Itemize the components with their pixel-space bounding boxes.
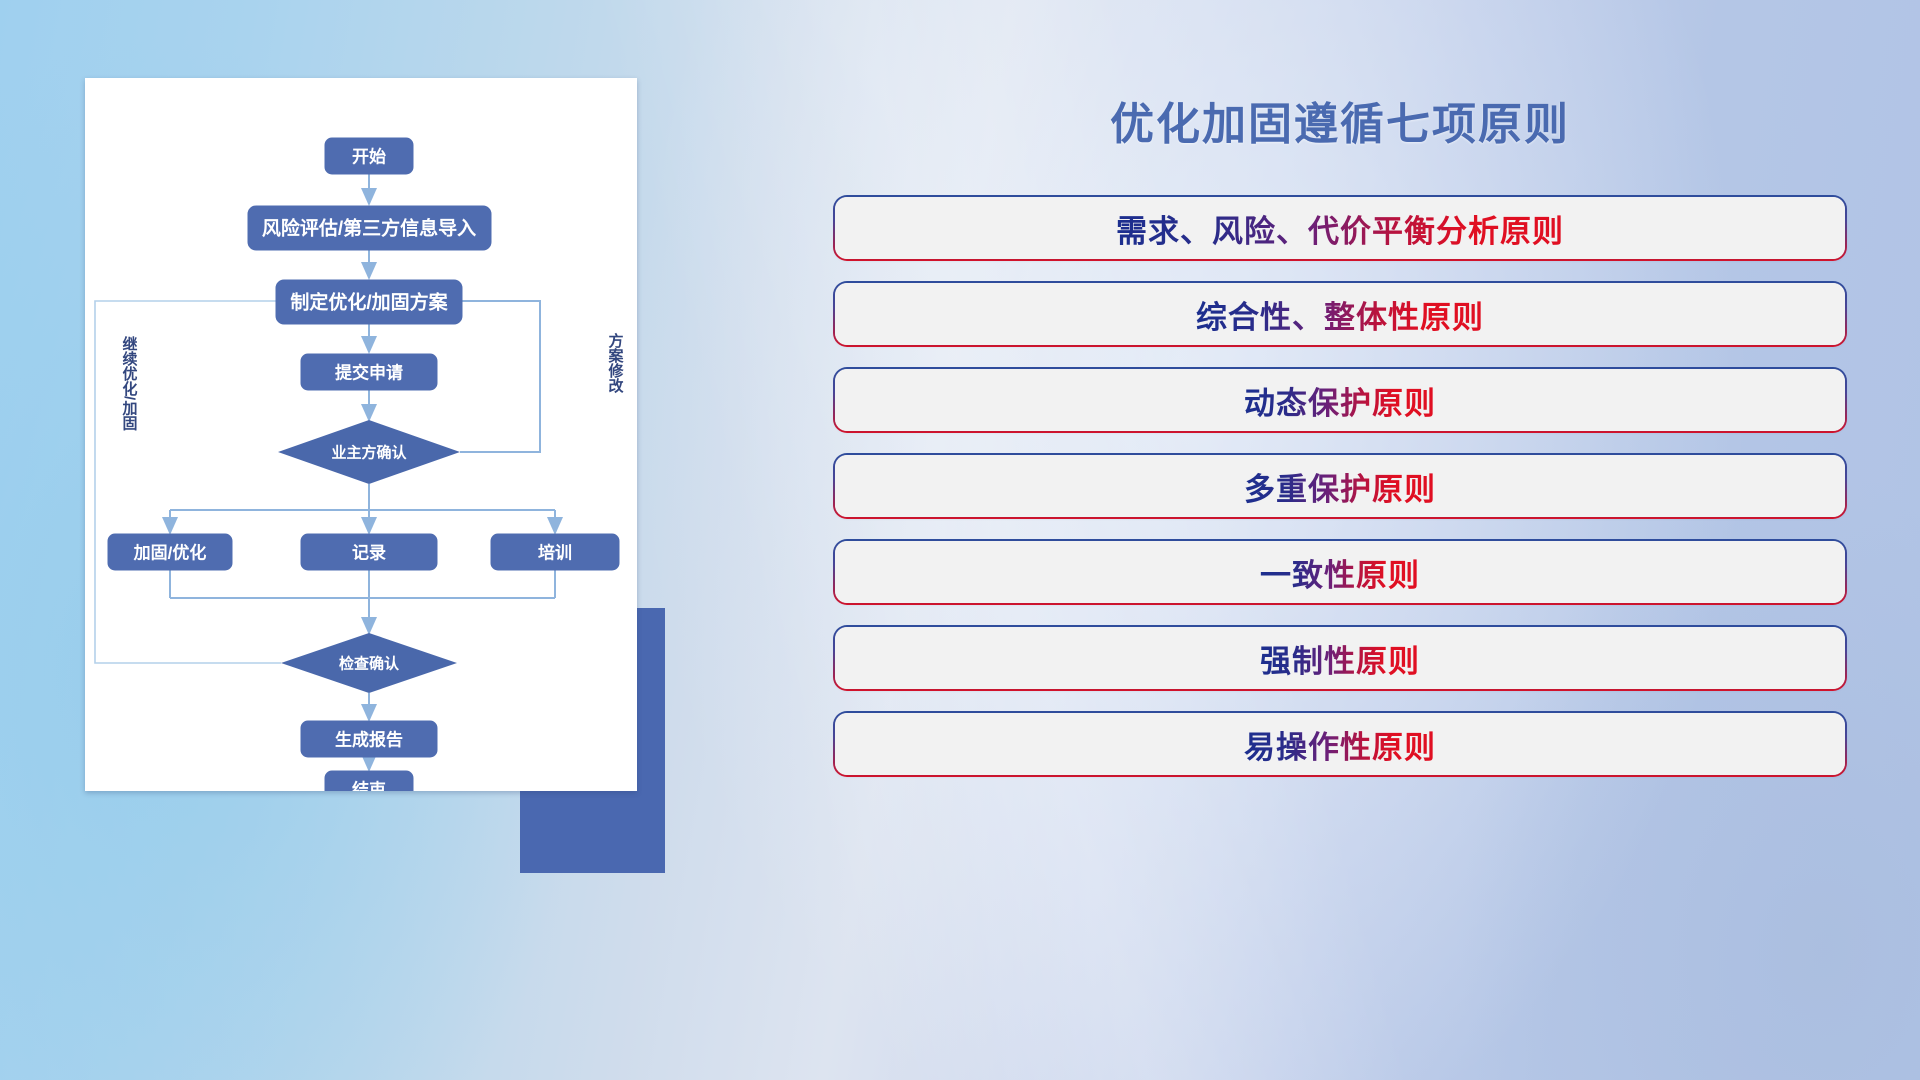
principle-label: 一致性原则 (1260, 550, 1420, 595)
principle-card-6[interactable]: 强制性原则 (835, 627, 1845, 689)
principle-label: 强制性原则 (1260, 636, 1420, 681)
principle-card-7[interactable]: 易操作性原则 (835, 713, 1845, 775)
flow-node-record[interactable]: 记录 (301, 534, 437, 570)
flowchart-panel-wrapper: 开始 风险评估/第三方信息导入 制定优化/加固方案 提交申请 业主方确认 加固/… (85, 78, 670, 803)
principle-card-1[interactable]: 需求、风险、代价平衡分析原则 (835, 197, 1845, 259)
flow-node-report[interactable]: 生成报告 (301, 721, 437, 757)
flow-node-check-confirm-label: 检查确认 (339, 655, 400, 673)
flow-node-start-label: 开始 (352, 147, 386, 167)
loop-label-revise: 方案修改 (607, 332, 625, 394)
page-title: 优化加固遵循七项原则 (835, 88, 1845, 152)
flow-node-training-label: 培训 (538, 543, 572, 563)
flow-node-check-confirm[interactable]: 检查确认 (281, 633, 457, 693)
flow-node-training[interactable]: 培训 (491, 534, 619, 570)
flow-node-owner-confirm-label: 业主方确认 (331, 444, 407, 462)
flow-node-reinforce-label: 加固/优化 (133, 543, 207, 563)
flow-node-report-label: 生成报告 (335, 730, 403, 750)
flow-node-plan-label: 制定优化/加固方案 (290, 291, 448, 314)
flow-node-record-label: 记录 (352, 544, 386, 563)
flow-node-owner-confirm[interactable]: 业主方确认 (278, 420, 460, 484)
flow-node-reinforce[interactable]: 加固/优化 (108, 534, 232, 570)
principle-card-2[interactable]: 综合性、整体性原则 (835, 283, 1845, 345)
flow-node-risk-assessment-label: 风险评估/第三方信息导入 (262, 217, 476, 240)
flow-node-end-label: 结束 (352, 780, 386, 792)
principles-list: 需求、风险、代价平衡分析原则 综合性、整体性原则 动态保护原则 多重保护原则 一… (835, 197, 1845, 775)
flow-node-end[interactable]: 结束 (325, 771, 413, 791)
flow-node-submit-label: 提交申请 (335, 363, 403, 383)
principle-label: 动态保护原则 (1244, 378, 1436, 423)
principle-label: 易操作性原则 (1244, 722, 1436, 767)
principle-card-4[interactable]: 多重保护原则 (835, 455, 1845, 517)
loop-label-continue: 继续优化/加固 (121, 335, 139, 431)
flow-node-risk-assessment[interactable]: 风险评估/第三方信息导入 (248, 206, 491, 250)
flowchart-diagram: 开始 风险评估/第三方信息导入 制定优化/加固方案 提交申请 业主方确认 加固/… (85, 78, 637, 791)
principle-card-3[interactable]: 动态保护原则 (835, 369, 1845, 431)
principle-label: 多重保护原则 (1244, 464, 1436, 509)
flow-node-start[interactable]: 开始 (325, 138, 413, 174)
principle-card-5[interactable]: 一致性原则 (835, 541, 1845, 603)
flow-node-submit[interactable]: 提交申请 (301, 354, 437, 390)
principles-panel: 优化加固遵循七项原则 需求、风险、代价平衡分析原则 综合性、整体性原则 动态保护… (835, 60, 1845, 1020)
principle-label: 需求、风险、代价平衡分析原则 (1116, 206, 1564, 251)
flow-node-plan[interactable]: 制定优化/加固方案 (276, 280, 462, 324)
principle-label: 综合性、整体性原则 (1196, 292, 1484, 337)
